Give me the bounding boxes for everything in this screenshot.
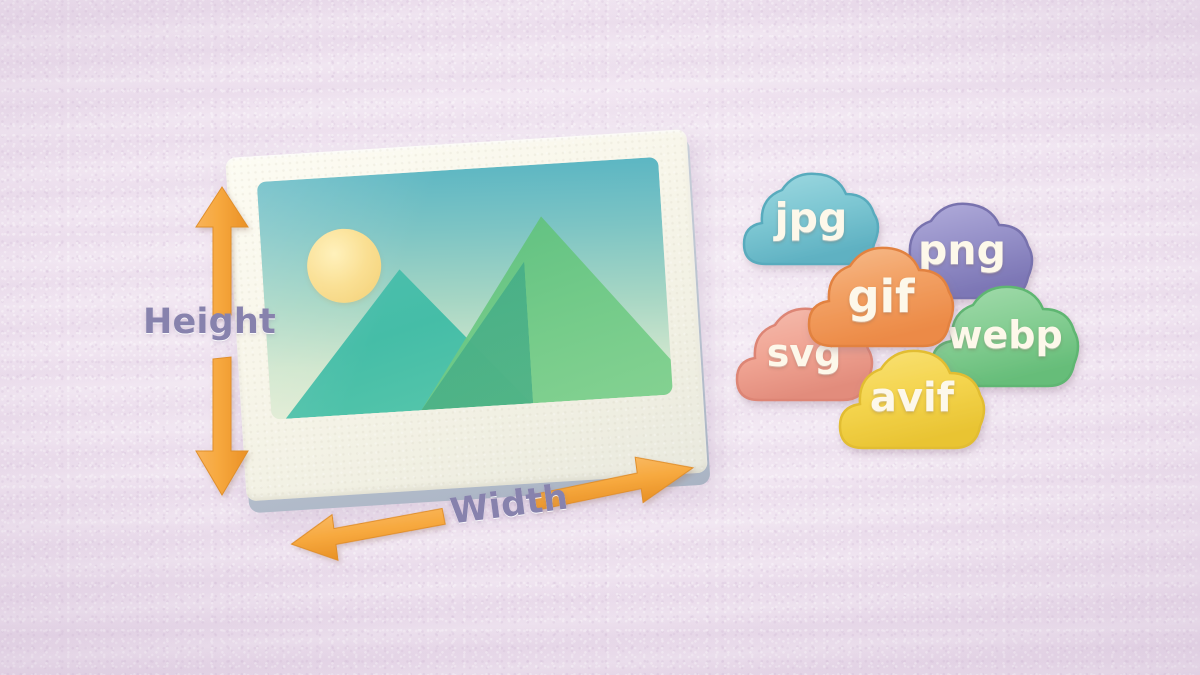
format-cloud-gif[interactable]: gif xyxy=(800,238,962,354)
cloud-shape-icon xyxy=(830,340,994,456)
height-arrow xyxy=(190,183,254,503)
illustration-scene: Height Width xyxy=(0,0,1200,675)
format-cloud-cluster: jpg png gif svg webp xyxy=(722,158,1102,468)
height-label: Height xyxy=(143,302,276,342)
cloud-shape-icon xyxy=(800,238,962,354)
format-cloud-avif[interactable]: avif xyxy=(830,340,994,456)
photo-landscape-image xyxy=(257,157,673,420)
height-arrow-icon xyxy=(190,183,254,503)
